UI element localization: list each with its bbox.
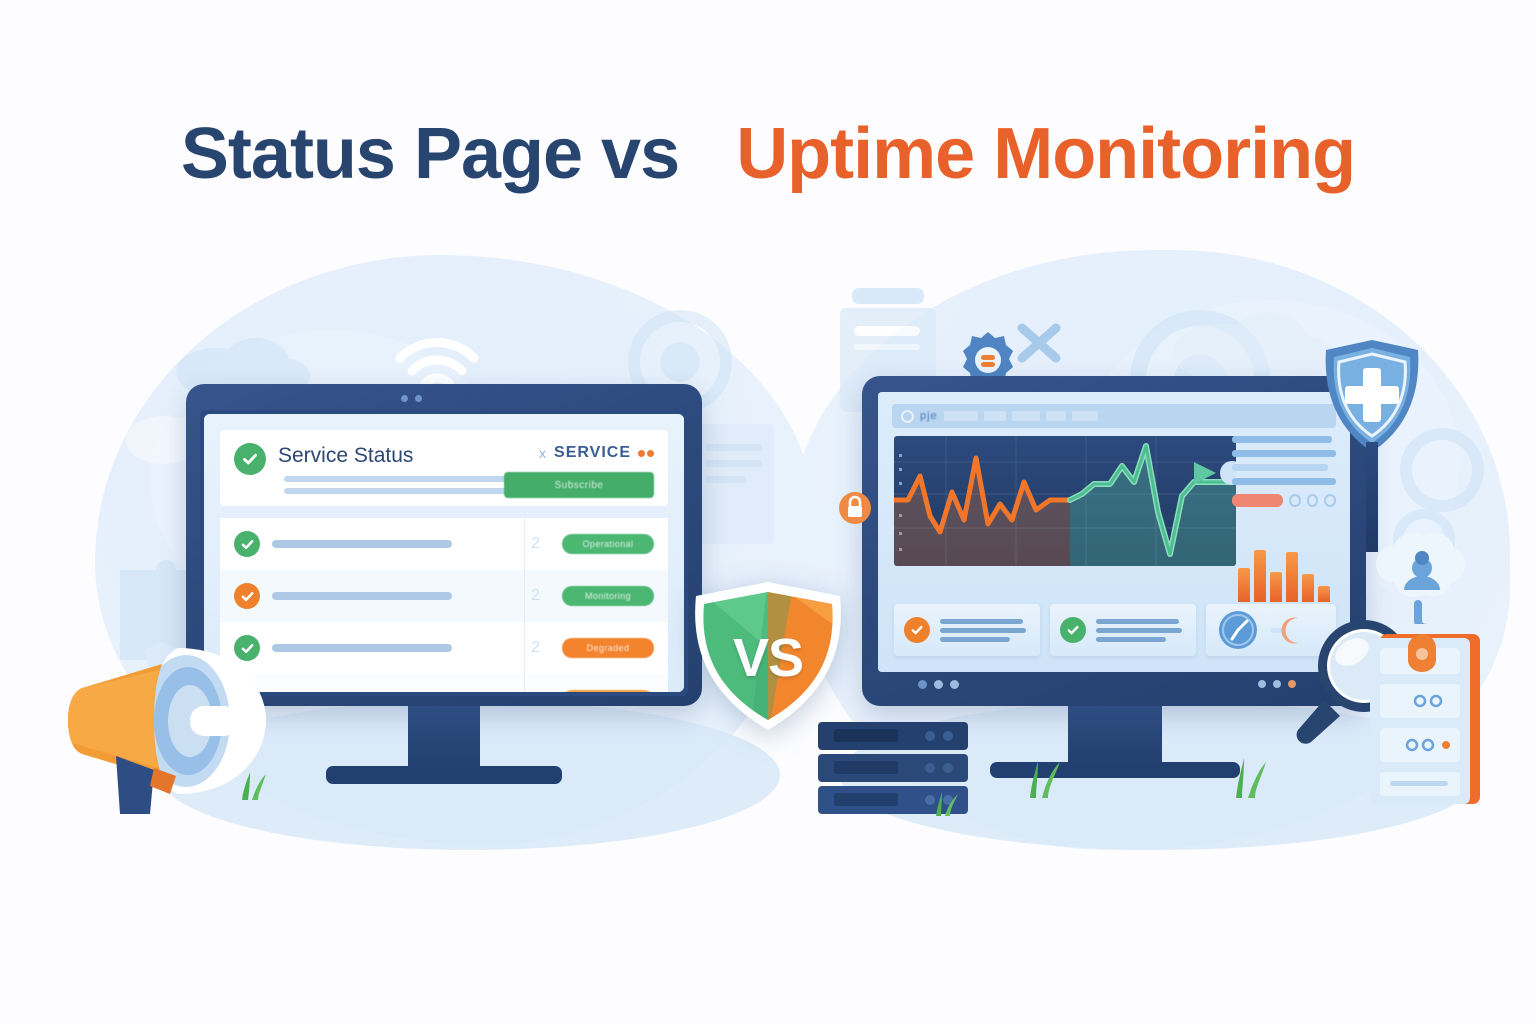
mini-bar-chart bbox=[1238, 544, 1342, 602]
status-page-title: Service Status bbox=[278, 444, 413, 468]
ring-icon bbox=[1324, 494, 1336, 507]
column-divider bbox=[524, 514, 525, 692]
dashboard-screen[interactable]: pje bbox=[878, 392, 1350, 672]
cloud-user-icon bbox=[1368, 528, 1474, 624]
lock-badge-icon bbox=[838, 488, 872, 528]
megaphone-icon bbox=[58, 628, 308, 818]
table-row[interactable]: 2 Monitoring bbox=[220, 570, 668, 622]
gauge-icon bbox=[1216, 608, 1260, 652]
status-page-brand: x SERVICE bbox=[539, 444, 654, 462]
toolbar-block bbox=[944, 411, 978, 421]
toolbar-block bbox=[1072, 411, 1098, 421]
dashboard-cards bbox=[894, 604, 1336, 656]
monitor-camera-dots-left bbox=[401, 395, 422, 402]
monitor-stand-neck-right bbox=[1068, 706, 1162, 764]
status-badge: Degraded bbox=[562, 638, 654, 658]
check-circle-green-icon bbox=[234, 531, 260, 557]
status-badge bbox=[562, 690, 654, 692]
red-status-bar bbox=[1232, 494, 1283, 507]
status-page-header-card: Service Status x SERVICE Subscribe bbox=[220, 430, 668, 506]
monitor-indicator-dots-right bbox=[1258, 680, 1296, 688]
toolbar-block bbox=[984, 411, 1006, 421]
check-circle-green-icon bbox=[1060, 617, 1086, 643]
sidebar-status-row bbox=[1232, 494, 1336, 507]
page-title: Status Page vs Uptime Monitoring bbox=[0, 118, 1536, 190]
dashboard-sidebar bbox=[1232, 436, 1336, 507]
check-circle-green-icon bbox=[234, 443, 266, 475]
page-title-part-1: Status Page vs bbox=[181, 114, 679, 194]
brand-name-label: SERVICE bbox=[554, 444, 631, 462]
row-number: 2 bbox=[531, 535, 540, 553]
toolbar-label: pje bbox=[920, 410, 938, 422]
toolbar-block bbox=[1046, 411, 1066, 421]
row-number: 2 bbox=[531, 639, 540, 657]
check-circle-orange-icon bbox=[234, 583, 260, 609]
table-row[interactable]: 2 Operational bbox=[220, 518, 668, 570]
monitor-indicator-dots-left bbox=[918, 680, 959, 689]
ring-icon bbox=[1307, 494, 1319, 507]
status-card-warning[interactable] bbox=[894, 604, 1040, 656]
card-text-lines bbox=[940, 615, 1030, 646]
server-rack-icon bbox=[1368, 628, 1488, 808]
server-stack-icon bbox=[812, 718, 982, 823]
ring-icon bbox=[1289, 494, 1301, 507]
brand-dots-icon bbox=[638, 450, 654, 457]
close-x-icon bbox=[1010, 316, 1070, 370]
row-number: 3 bbox=[531, 691, 540, 692]
status-card-ok[interactable] bbox=[1050, 604, 1196, 656]
vs-shield-badge: VS bbox=[684, 578, 852, 738]
shield-health-icon bbox=[1322, 338, 1422, 456]
check-circle-orange-icon bbox=[904, 617, 930, 643]
row-number: 2 bbox=[531, 587, 540, 605]
page-title-part-2: Uptime Monitoring bbox=[736, 114, 1355, 194]
brand-x-label: x bbox=[539, 445, 547, 461]
card-text-lines bbox=[1096, 615, 1186, 646]
toolbar-block bbox=[1012, 411, 1040, 421]
monitor-stand-base-left bbox=[326, 766, 562, 784]
dashboard-content: pje bbox=[878, 392, 1350, 672]
subscribe-button[interactable]: Subscribe bbox=[504, 472, 654, 498]
vs-label: VS bbox=[684, 578, 852, 738]
status-badge: Monitoring bbox=[562, 586, 654, 606]
monitor-stand-neck-left bbox=[408, 706, 480, 768]
circle-outline-icon bbox=[901, 410, 914, 423]
dashboard-toolbar[interactable]: pje bbox=[892, 404, 1336, 428]
document-lines-icon bbox=[690, 420, 780, 570]
monitor-stand-base-right bbox=[990, 762, 1240, 778]
illustration-canvas: Status Page vs Uptime Monitoring bbox=[0, 0, 1536, 1024]
status-badge: Operational bbox=[562, 534, 654, 554]
response-time-chart bbox=[894, 436, 1236, 566]
